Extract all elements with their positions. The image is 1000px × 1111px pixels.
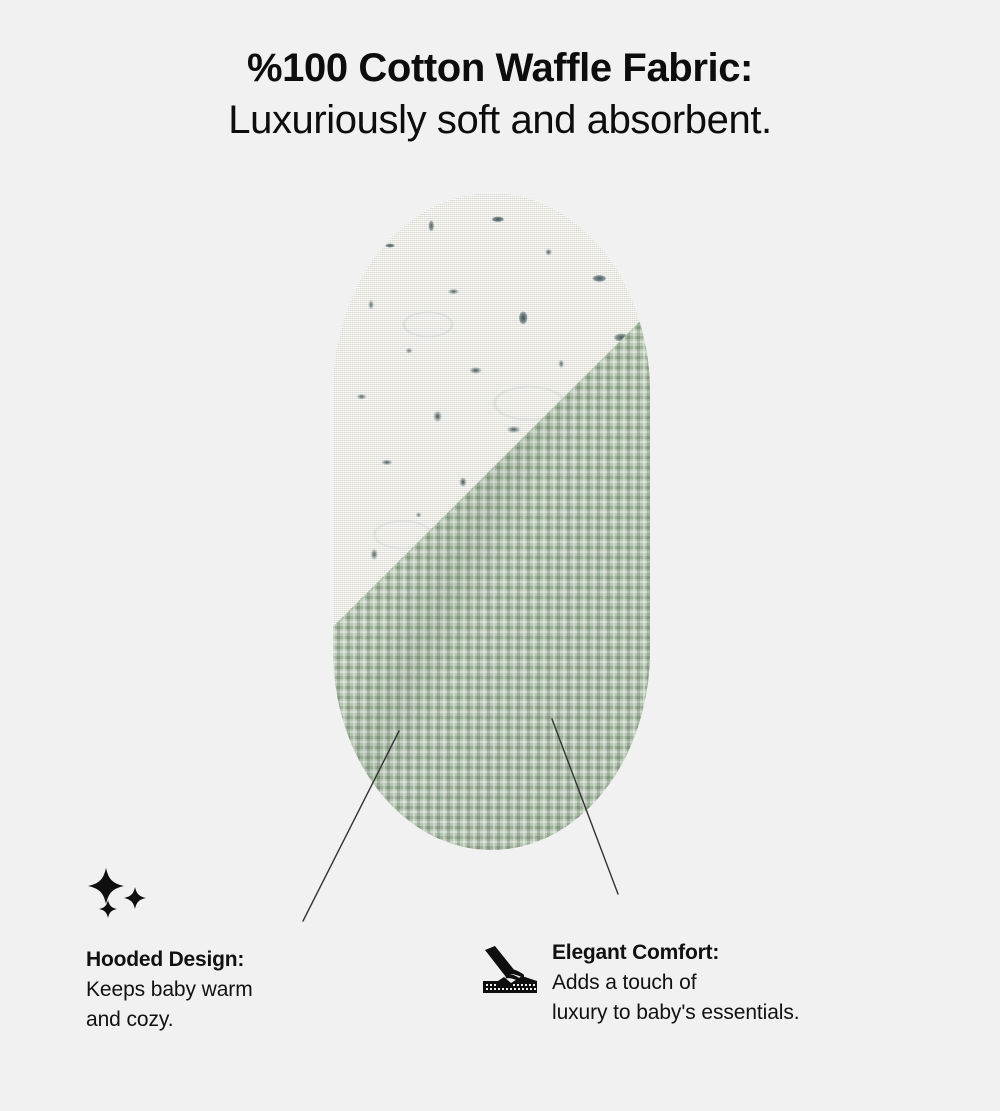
- feature-title: Hooded Design:: [86, 945, 416, 975]
- feature-title: Elegant Comfort:: [552, 938, 800, 968]
- hand-touching-fabric-icon: [482, 945, 538, 1000]
- feature-text-block: Elegant Comfort: Adds a touch of luxury …: [552, 938, 800, 1028]
- page-title: %100 Cotton Waffle Fabric: Luxuriously s…: [0, 44, 1000, 146]
- sparkles-icon: [86, 866, 416, 927]
- feature-hooded-design: Hooded Design: Keeps baby warm and cozy.: [86, 866, 416, 1035]
- product-fabric-swatch: [333, 193, 650, 850]
- headline-line-2: Luxuriously soft and absorbent.: [0, 94, 1000, 146]
- feature-description: Adds a touch of luxury to baby's essenti…: [552, 968, 800, 1028]
- feature-elegant-comfort: Elegant Comfort: Adds a touch of luxury …: [482, 938, 952, 1028]
- headline-line-1: %100 Cotton Waffle Fabric:: [0, 44, 1000, 92]
- feature-description: Keeps baby warm and cozy.: [86, 975, 416, 1035]
